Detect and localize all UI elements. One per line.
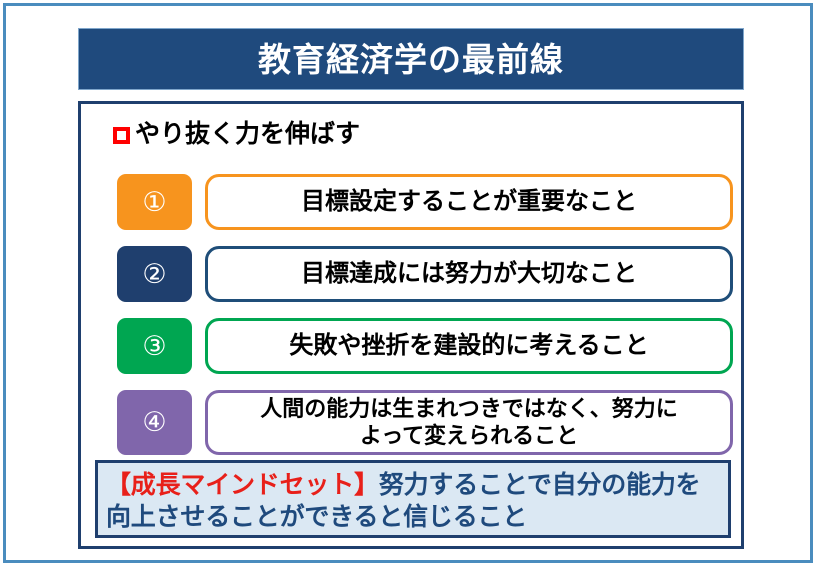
- growth-mindset-note-text: 【成長マインドセット】努力することで自分の能力を向上させることができると信じるこ…: [106, 469, 720, 533]
- item-number-label: ①: [142, 189, 166, 216]
- list-item: ④ 人間の能力は生まれつきではなく、努力によって変えられること: [117, 390, 733, 455]
- item-text-label: 人間の能力は生まれつきではなく、努力によって変えられること: [254, 396, 684, 449]
- list-item: ③ 失敗や挫折を建設的に考えること: [117, 318, 733, 374]
- slide-canvas: 教育経済学の最前線 やり抜く力を伸ばす ① 目標設定することが重要なこと ② 目…: [3, 3, 813, 563]
- item-number-badge: ①: [117, 174, 192, 230]
- list-item: ② 目標達成には努力が大切なこと: [117, 246, 733, 302]
- item-text-label: 目標達成には努力が大切なこと: [295, 260, 643, 288]
- item-number-label: ④: [142, 409, 166, 436]
- growth-mindset-emphasis: 【成長マインドセット】: [106, 471, 379, 499]
- item-number-badge: ②: [117, 246, 192, 302]
- growth-mindset-note: 【成長マインドセット】努力することで自分の能力を向上させることができると信じるこ…: [95, 460, 731, 538]
- red-square-bullet-icon: [113, 127, 130, 144]
- item-number-badge: ④: [117, 390, 192, 455]
- item-text-box: 失敗や挫折を建設的に考えること: [205, 318, 733, 374]
- item-text-label: 失敗や挫折を建設的に考えること: [283, 332, 654, 360]
- item-number-badge: ③: [117, 318, 192, 374]
- item-text-box: 目標設定することが重要なこと: [205, 174, 733, 230]
- item-number-label: ②: [142, 261, 166, 288]
- page-title: 教育経済学の最前線: [258, 43, 564, 76]
- item-text-label: 目標設定することが重要なこと: [295, 188, 643, 216]
- item-text-box: 人間の能力は生まれつきではなく、努力によって変えられること: [205, 390, 733, 455]
- content-panel: やり抜く力を伸ばす ① 目標設定することが重要なこと ② 目標達成には努力が大切…: [78, 101, 744, 549]
- item-number-label: ③: [142, 333, 166, 360]
- item-text-box: 目標達成には努力が大切なこと: [205, 246, 733, 302]
- section-heading: やり抜く力を伸ばす: [113, 122, 360, 147]
- section-heading-label: やり抜く力を伸ばす: [135, 122, 360, 147]
- slide-title-bar: 教育経済学の最前線: [78, 28, 744, 90]
- list-item: ① 目標設定することが重要なこと: [117, 174, 733, 230]
